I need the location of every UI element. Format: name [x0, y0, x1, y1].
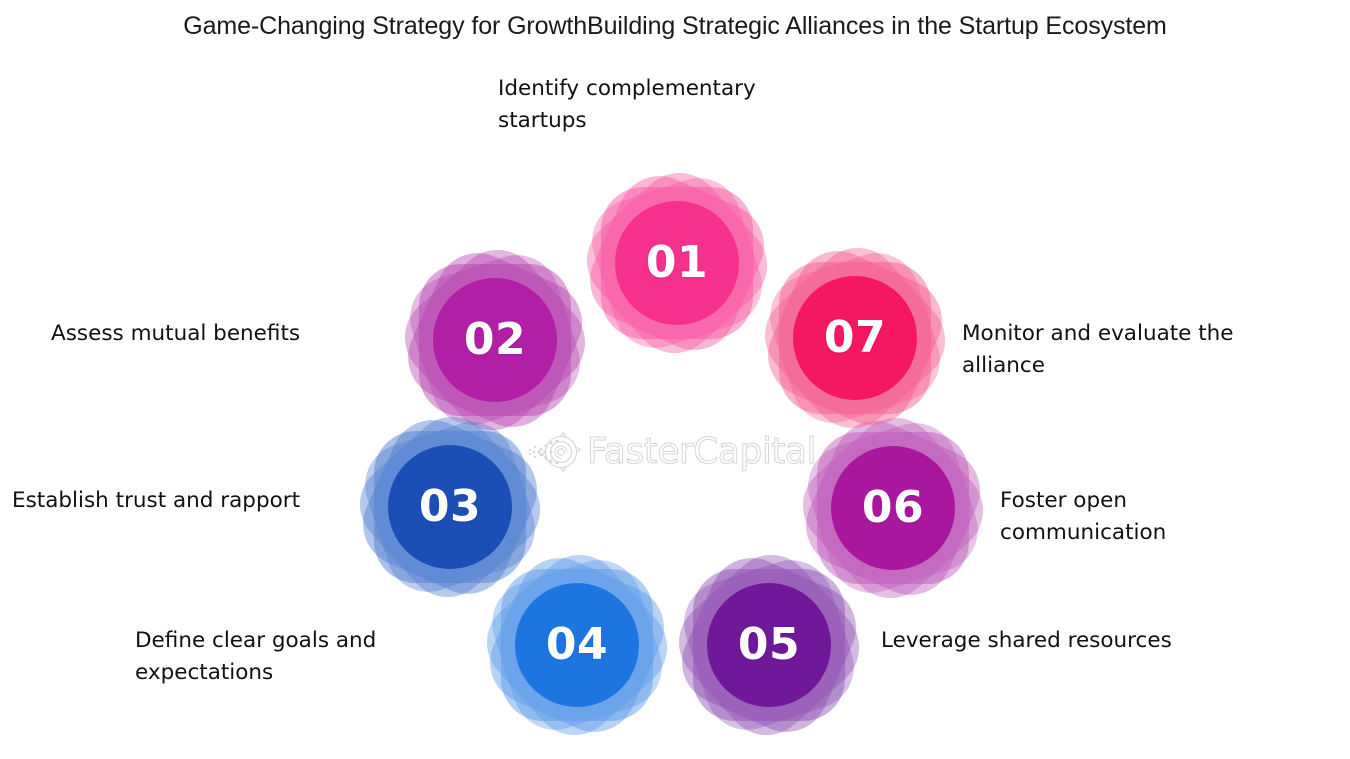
step-label-03: Establish trust and rapport — [12, 485, 300, 517]
step-badge-04[interactable]: 04 — [472, 540, 682, 750]
step-label-07: Monitor and evaluate the alliance — [962, 318, 1234, 382]
step-label-05: Leverage shared resources — [881, 625, 1172, 657]
step-label-06: Foster open communication — [1000, 485, 1166, 549]
step-label-01: Identify complementary startups — [498, 73, 756, 137]
step-number: 04 — [472, 540, 682, 750]
step-label-02: Assess mutual benefits — [51, 318, 300, 350]
infographic-canvas: Game-Changing Strategy for GrowthBuildin… — [0, 0, 1350, 759]
step-badge-07[interactable]: 07 — [750, 233, 960, 443]
step-label-04: Define clear goals and expectations — [135, 625, 376, 689]
step-number: 07 — [750, 233, 960, 443]
page-title: Game-Changing Strategy for GrowthBuildin… — [0, 12, 1350, 41]
